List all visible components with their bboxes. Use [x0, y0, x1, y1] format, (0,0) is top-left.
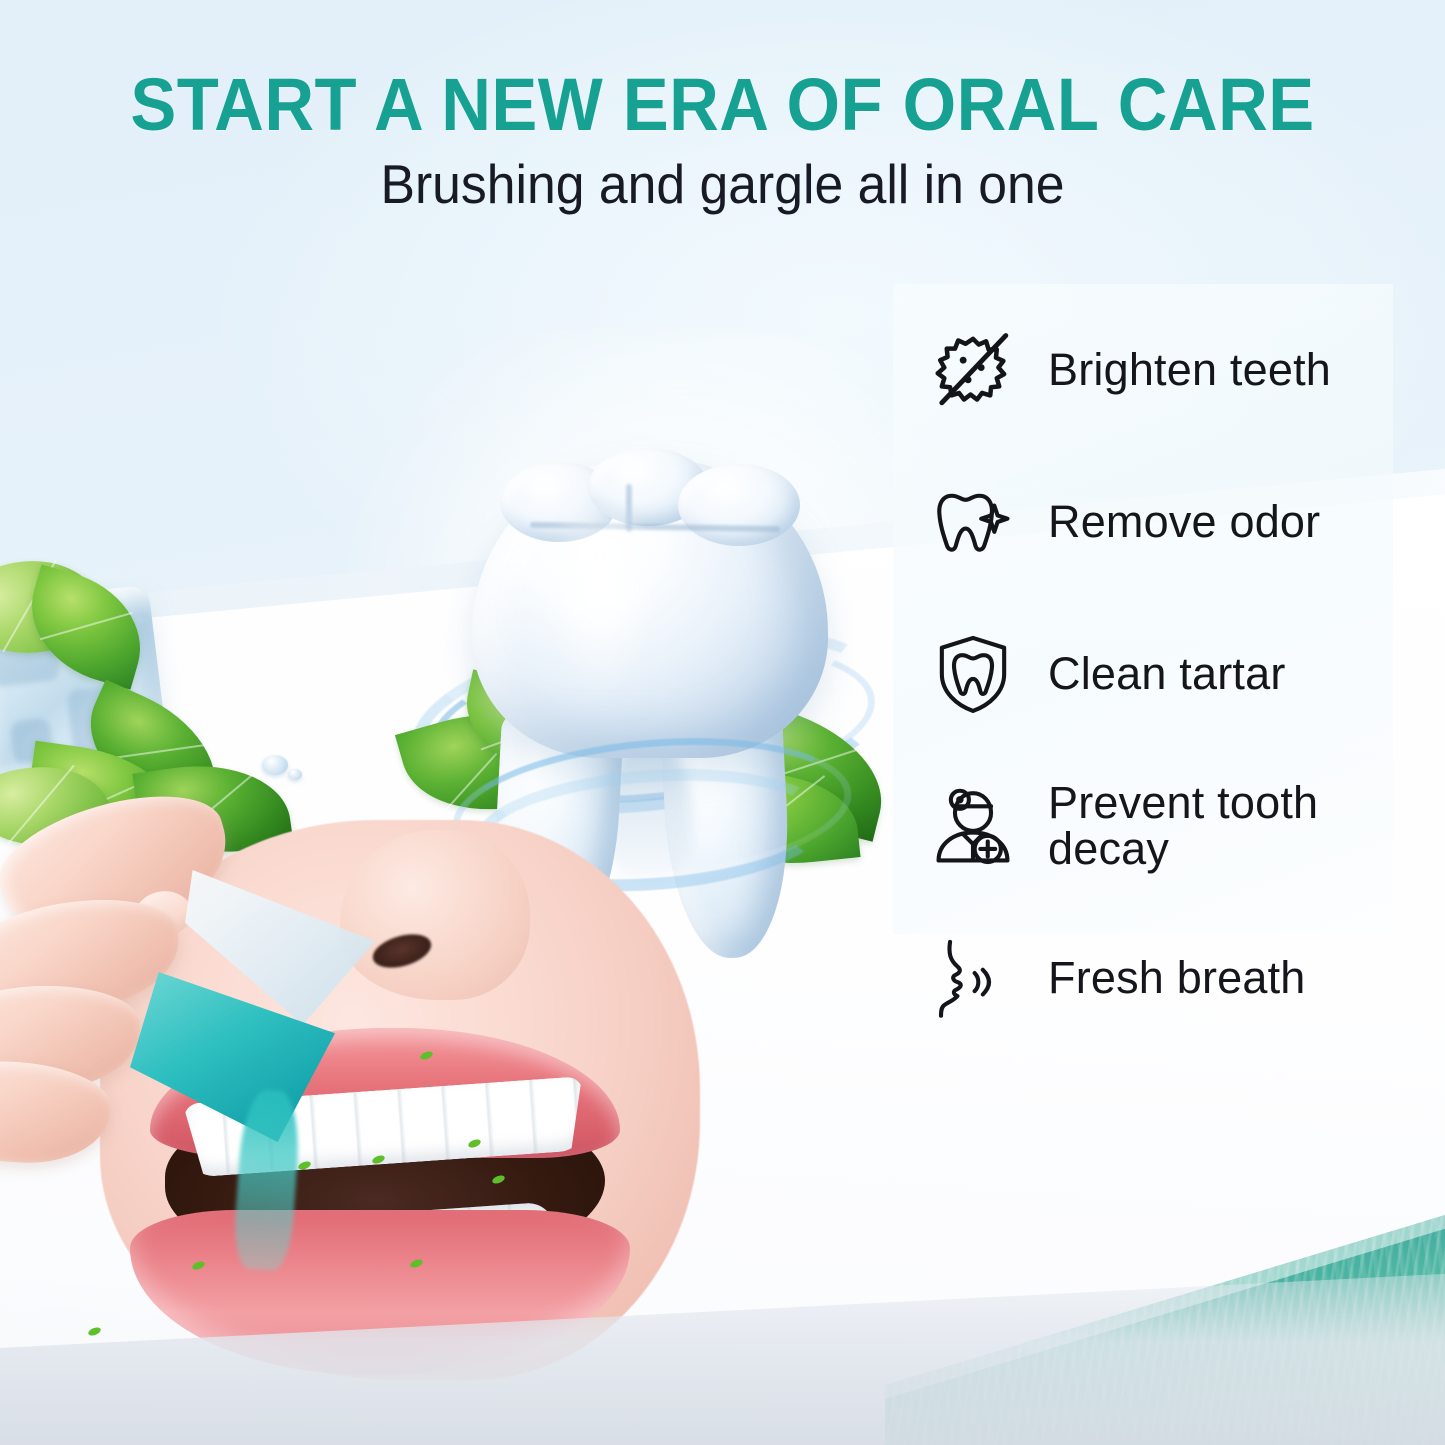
shield-tooth-icon — [930, 631, 1016, 717]
page-title: START A NEW ERA OF ORAL CARE — [51, 62, 1395, 147]
feature-label: Prevent tooth decay — [1048, 780, 1430, 872]
feature-item-clean-tartar[interactable]: Clean tartar — [930, 634, 1430, 714]
tooth-sparkle-icon — [930, 479, 1016, 565]
water-droplet — [262, 755, 288, 775]
feature-item-remove-odor[interactable]: Remove odor — [930, 482, 1430, 562]
feature-label: Remove odor — [1048, 498, 1320, 546]
feature-list: Brighten teeth Remove odor Clean tartar — [930, 330, 1430, 1018]
feature-label: Brighten teeth — [1048, 346, 1331, 394]
feature-item-prevent-tooth-decay[interactable]: Prevent tooth decay — [930, 786, 1430, 866]
breath-profile-icon — [930, 935, 1016, 1021]
page-subtitle: Brushing and gargle all in one — [43, 152, 1401, 216]
feature-label: Fresh breath — [1048, 954, 1306, 1002]
no-bacteria-icon — [930, 327, 1016, 413]
feature-item-brighten-teeth[interactable]: Brighten teeth — [930, 330, 1430, 410]
mouth-photo-scene — [0, 790, 680, 1390]
feature-item-fresh-breath[interactable]: Fresh breath — [930, 938, 1430, 1018]
feature-label: Clean tartar — [1048, 650, 1286, 698]
dentist-doctor-icon — [930, 783, 1016, 869]
mint-speck — [87, 1326, 102, 1337]
tooth-highlight — [540, 510, 660, 700]
tooth-cusp — [678, 464, 800, 546]
water-droplet — [288, 769, 302, 780]
nose — [340, 830, 530, 1000]
product-poster: START A NEW ERA OF ORAL CARE Brushing an… — [0, 0, 1445, 1445]
